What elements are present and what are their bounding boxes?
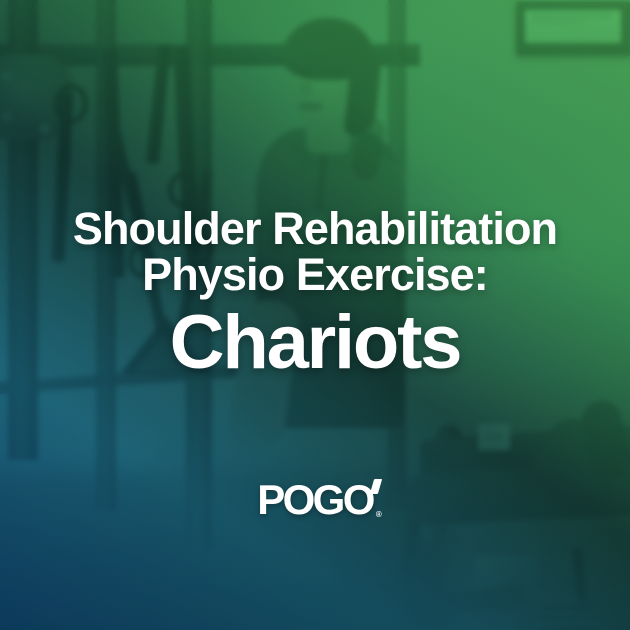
title-block: Shoulder Rehabilitation Physio Exercise:…	[0, 206, 630, 386]
title-line-3-exercise-name: Chariots	[0, 300, 630, 386]
pogo-logo: POGO ®	[0, 480, 630, 520]
registered-trademark-icon: ®	[376, 511, 382, 519]
title-line-1: Shoulder Rehabilitation	[0, 206, 630, 252]
pogo-logo-inner: POGO ®	[257, 480, 373, 520]
foreground-content: Shoulder Rehabilitation Physio Exercise:…	[0, 0, 630, 630]
title-line-2: Physio Exercise:	[0, 252, 630, 298]
pogo-wordmark: POGO	[257, 476, 373, 523]
title-card-canvas: Shoulder Rehabilitation Physio Exercise:…	[0, 0, 630, 630]
